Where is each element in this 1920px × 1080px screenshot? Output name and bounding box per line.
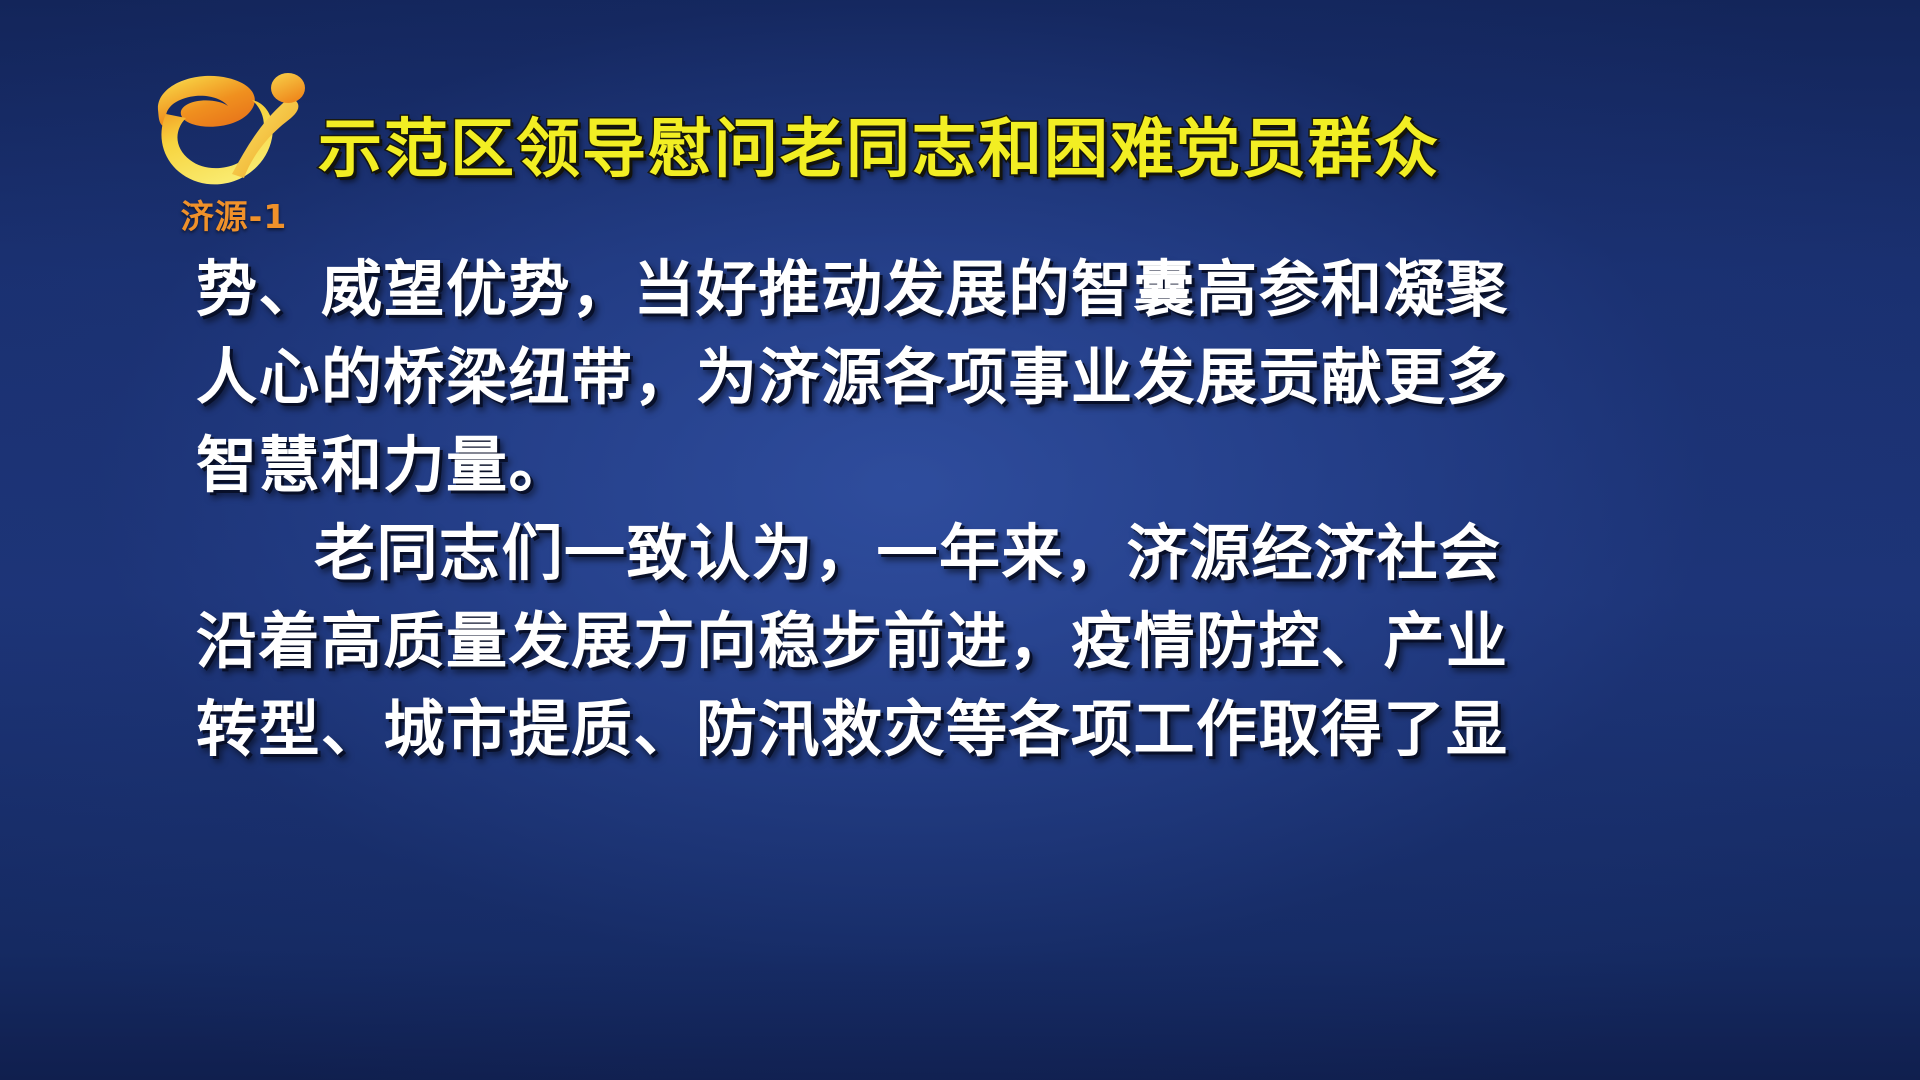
channel-logo-text: 济源-1 [144, 190, 324, 238]
subtitle-line: 沿着高质量发展方向稳步前进，疫情防控、产业 [196, 598, 1756, 686]
subtitle-line: 人心的桥梁纽带，为济源各项事业发展贡献更多 [196, 334, 1756, 422]
subtitle-block: 势、威望优势，当好推动发展的智囊高参和凝聚 人心的桥梁纽带，为济源各项事业发展贡… [196, 246, 1756, 774]
subtitle-line: 转型、城市提质、防汛救灾等各项工作取得了显 [196, 686, 1756, 774]
page-title: 示范区领导慰问老同志和困难党员群众 [318, 118, 1440, 182]
broadcast-screen: 济源-1 示范区领导慰问老同志和困难党员群众 势、威望优势，当好推动发展的智囊高… [0, 0, 1920, 1080]
jiyuan-swoosh-logo-icon [136, 62, 326, 197]
subtitle-line: 智慧和力量。 [196, 422, 1756, 510]
subtitle-line: 势、威望优势，当好推动发展的智囊高参和凝聚 [196, 246, 1756, 334]
broadcast-header: 济源-1 示范区领导慰问老同志和困难党员群众 [0, 0, 1920, 270]
subtitle-line: 老同志们一致认为，一年来，济源经济社会 [196, 510, 1756, 598]
channel-logo: 济源-1 [136, 62, 326, 237]
